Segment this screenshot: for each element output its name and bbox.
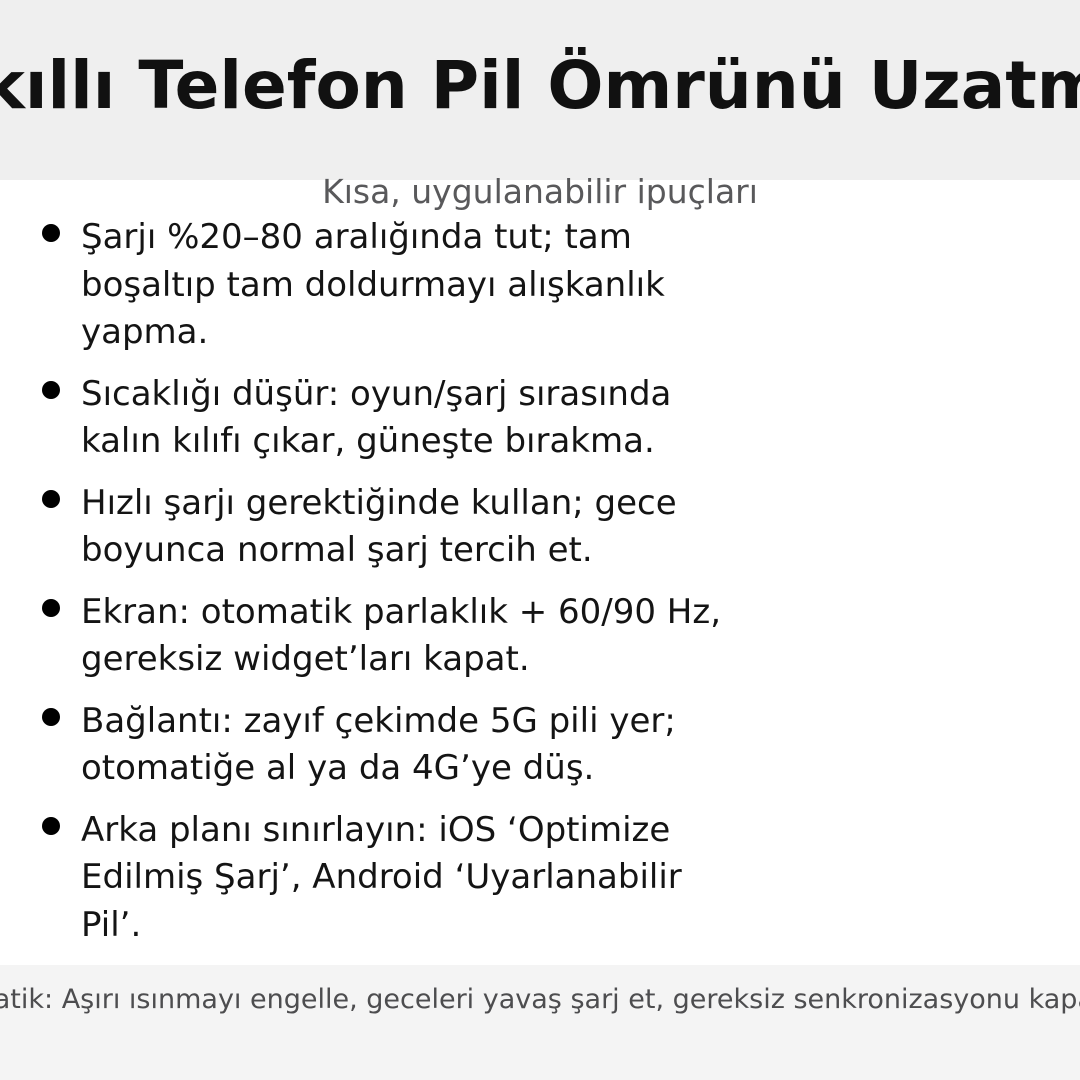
list-item-label: Hızlı şarjı gerektiğinde kullan; gece bo… [81, 480, 741, 575]
list-item: Hızlı şarjı gerektiğinde kullan; gece bo… [0, 480, 1080, 575]
footer-note: Pratik: Aşırı ısınmayı engelle, geceleri… [0, 982, 1080, 1018]
bullet-dot-icon [42, 490, 60, 508]
page-subtitle: Kısa, uygulanabilir ipuçları [0, 172, 1080, 212]
header-band: Akıllı Telefon Pil Ömrünü Uzatma [0, 0, 1080, 180]
list-item: Arka planı sınırlayın: iOS ‘Optimize Edi… [0, 807, 1080, 950]
bullet-dot-icon [42, 817, 60, 835]
slide-canvas: Akıllı Telefon Pil Ömrünü Uzatma Kısa, u… [0, 0, 1080, 1080]
bullet-dot-icon [42, 599, 60, 617]
bullet-dot-icon [42, 381, 60, 399]
list-item-label: Ekran: otomatik parlaklık + 60/90 Hz, ge… [81, 589, 741, 684]
list-item-label: Sıcaklığı düşür: oyun/şarj sırasında kal… [81, 371, 741, 466]
list-item: Şarjı %20–80 aralığında tut; tam boşaltı… [0, 214, 1080, 357]
list-item-label: Arka planı sınırlayın: iOS ‘Optimize Edi… [81, 807, 741, 950]
list-item: Sıcaklığı düşür: oyun/şarj sırasında kal… [0, 371, 1080, 466]
bullet-dot-icon [42, 224, 60, 242]
footer-band: Pratik: Aşırı ısınmayı engelle, geceleri… [0, 965, 1080, 1080]
page-title: Akıllı Telefon Pil Ömrünü Uzatma [0, 46, 1080, 126]
list-item: Ekran: otomatik parlaklık + 60/90 Hz, ge… [0, 589, 1080, 684]
list-item-label: Şarjı %20–80 aralığında tut; tam boşaltı… [81, 214, 741, 357]
list-item: Bağlantı: zayıf çekimde 5G pili yer; oto… [0, 698, 1080, 793]
list-item-label: Bağlantı: zayıf çekimde 5G pili yer; oto… [81, 698, 741, 793]
bullet-dot-icon [42, 708, 60, 726]
bullet-list: Şarjı %20–80 aralığında tut; tam boşaltı… [0, 214, 1080, 949]
